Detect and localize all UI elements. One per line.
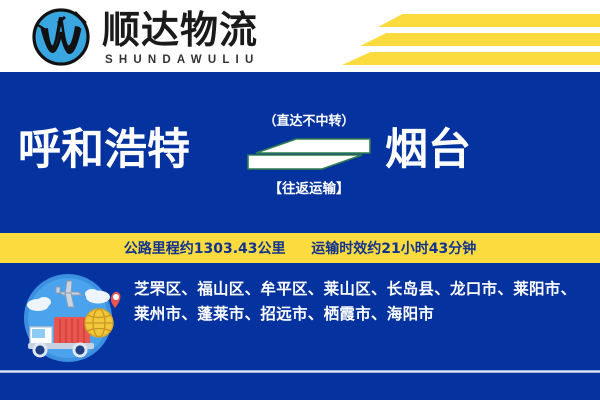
coverage-areas-text: 芝罘区、福山区、牟平区、莱山区、长岛县、龙口市、莱阳市、莱州市、蓬莱市、招远市、…	[134, 277, 584, 327]
stripe-2	[360, 33, 600, 46]
bottom-fill	[0, 373, 600, 400]
circle-w-logo-icon	[30, 6, 92, 68]
brand-logo[interactable]: 顺达物流 SHUNDAWULIU	[30, 6, 259, 68]
brand-name-en: SHUNDAWULIU	[102, 54, 259, 66]
route-info-bar: 公路里程约1303.43公里 运输时效约21小时43分钟	[0, 233, 600, 263]
destination-city: 烟台	[385, 124, 471, 176]
origin-city: 呼和浩特	[18, 124, 190, 176]
route-section: 呼和浩特 （直达不中转） 【往返运输】 烟台	[0, 72, 600, 233]
round-trip-note: 【往返运输】	[238, 177, 380, 197]
decorative-yellow-stripes	[340, 14, 600, 72]
duration-label: 运输时效约21小时43分钟	[311, 241, 476, 257]
banner-header: 顺达物流 SHUNDAWULIU	[0, 0, 600, 72]
route-middle: （直达不中转） 【往返运输】	[238, 110, 380, 197]
distance-label: 公路里程约1303.43公里	[124, 241, 286, 257]
logistics-route-banner: 顺达物流 SHUNDAWULIU 呼和浩特 （直达不中转） 【往返运输】 烟台	[0, 0, 600, 400]
brand-text: 顺达物流 SHUNDAWULIU	[102, 6, 259, 66]
stripe-3	[342, 52, 600, 65]
route-info-text: 公路里程约1303.43公里 运输时效约21小时43分钟	[124, 238, 476, 258]
stripe-1	[378, 14, 600, 27]
brand-name-cn: 顺达物流	[102, 8, 259, 52]
truck-plane-globe-icon	[12, 269, 130, 369]
coverage-section: 芝罘区、福山区、牟平区、莱山区、长岛县、龙口市、莱阳市、莱州市、蓬莱市、招远市、…	[0, 263, 600, 370]
direct-shipping-note: （直达不中转）	[238, 110, 380, 129]
bidirectional-arrow-icon	[238, 133, 380, 175]
